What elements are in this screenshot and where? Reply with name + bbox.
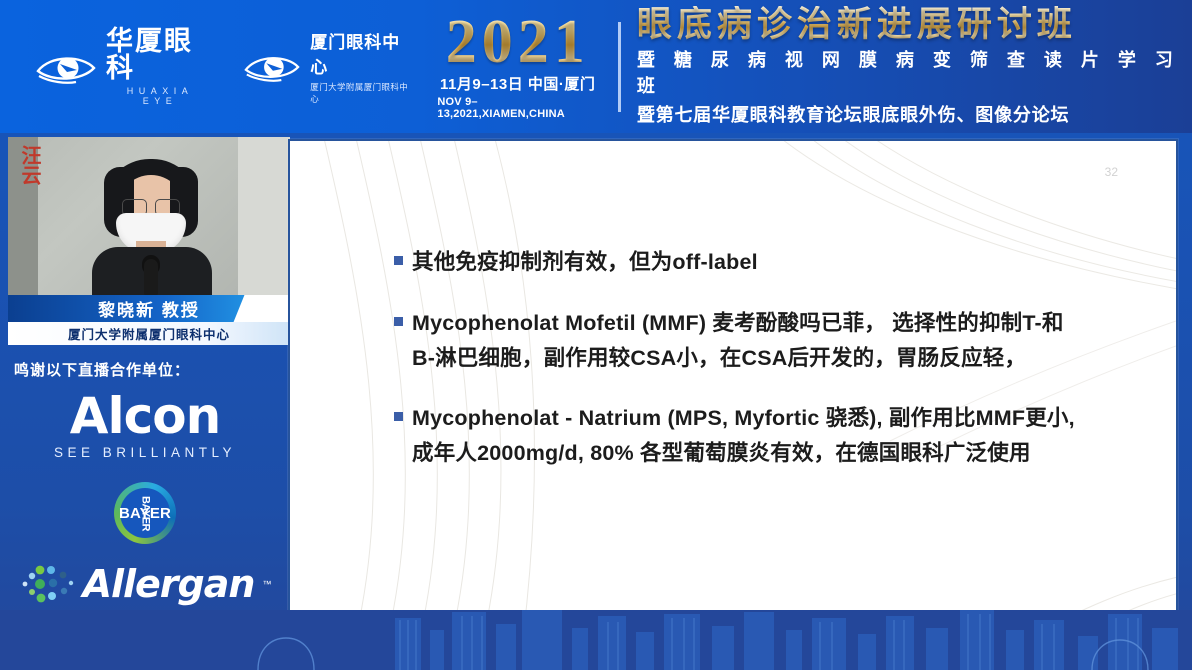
- video-background-text: 汪云: [14, 145, 44, 185]
- sponsor-list: Alcon SEE BRILLIANTLY BAYER BAYER: [0, 391, 290, 627]
- sponsors-heading: 鸣谢以下直播合作单位：: [14, 359, 190, 380]
- huaxia-brand-cn: 华厦眼科: [106, 28, 214, 82]
- xiamen-brand-cn: 厦门眼科中心: [310, 28, 413, 78]
- xiamen-eye-center-brand: 厦门眼科中心 厦门大学附属厦门眼科中心: [244, 28, 413, 105]
- presentation-slide-frame[interactable]: 32 其他免疫抑制剂有效，但为off-label Mycophenolat Mo…: [288, 139, 1178, 645]
- huaxia-brand-en: HUAXIA EYE: [106, 86, 214, 106]
- event-year: 2021: [446, 13, 590, 72]
- allergan-dots-icon: [19, 562, 75, 606]
- list-item: Mycophenolat - Natrium (MPS, Myfortic 骁悉…: [394, 401, 1130, 471]
- bullet-text: Mycophenolat Mofetil (MMF) 麦考酚酸吗已菲， 选择性的…: [412, 306, 1064, 376]
- speaker-figure: [96, 159, 206, 297]
- livestream-page: 华厦眼科 HUAXIA EYE 厦门眼科中心 厦门大学附属厦门眼科中心: [0, 0, 1192, 670]
- speaker-affiliation: 厦门大学附属厦门眼科中心: [68, 324, 230, 343]
- eye-logo-secondary-icon: [244, 51, 301, 83]
- event-header-banner: 华厦眼科 HUAXIA EYE 厦门眼科中心 厦门大学附属厦门眼科中心: [0, 0, 1192, 133]
- city-skyline-decoration: [0, 610, 1192, 670]
- bullet-line: B-淋巴细胞，副作用较CSA小，在CSA后开发的，胃肠反应轻，: [412, 341, 1064, 376]
- bullet-line: 成年人2000mg/d, 80% 各型葡萄膜炎有效，在德国眼科广泛使用: [412, 436, 1075, 471]
- allergan-logo-text: Allergan: [83, 565, 255, 603]
- bullet-text: Mycophenolat - Natrium (MPS, Myfortic 骁悉…: [412, 401, 1075, 471]
- event-date-en: NOV 9–13,2021,XIAMEN,CHINA: [437, 96, 598, 120]
- speaker-name-banner: 黎晓新 教授 厦门大学附属厦门眼科中心: [8, 295, 290, 345]
- list-item: Mycophenolat Mofetil (MMF) 麦考酚酸吗已菲， 选择性的…: [394, 306, 1130, 376]
- xiamen-brand-sub: 厦门大学附属厦门眼科中心: [310, 81, 413, 105]
- slide-bullet-list: 其他免疫抑制剂有效，但为off-label Mycophenolat Mofet…: [394, 245, 1130, 497]
- eye-logo-icon: [36, 51, 96, 83]
- event-subtitle-1: 暨 糖 尿 病 视 网 膜 病 变 筛 查 读 片 学 习 班: [637, 46, 1192, 98]
- eyeglasses-icon: [122, 199, 180, 214]
- event-date-block: 2021 11月9–13日 中国·厦门 NOV 9–13,2021,XIAMEN…: [437, 13, 598, 121]
- bullet-square-icon: [394, 256, 403, 265]
- sidebar: 汪云 黎晓新 教授 厦门大学附属厦门眼科中心 鸣谢以下直播合作单位：: [0, 133, 290, 670]
- event-main-title: 眼底病诊治新进展研讨班: [637, 6, 1192, 44]
- presentation-slide: 32 其他免疫抑制剂有效，但为off-label Mycophenolat Mo…: [290, 141, 1176, 643]
- huaxia-eye-brand: 华厦眼科 HUAXIA EYE: [36, 28, 214, 106]
- bayer-logo-text-v: BAYER: [140, 496, 151, 531]
- alcon-tagline: SEE BRILLIANTLY: [0, 445, 290, 460]
- bayer-logo-icon: BAYER BAYER: [114, 482, 176, 544]
- event-subtitle-2: 暨第七届华厦眼科教育论坛眼底眼外伤、图像分论坛: [637, 101, 1192, 127]
- event-title-block: 眼底病诊治新进展研讨班 暨 糖 尿 病 视 网 膜 病 变 筛 查 读 片 学 …: [637, 6, 1192, 128]
- speaker-name: 黎晓新 教授: [8, 295, 290, 322]
- list-item: 其他免疫抑制剂有效，但为off-label: [394, 245, 1130, 280]
- slide-page-number: 32: [1105, 165, 1118, 179]
- speaker-video-player[interactable]: 汪云: [8, 137, 290, 297]
- bullet-square-icon: [394, 317, 403, 326]
- bullet-square-icon: [394, 412, 403, 421]
- sponsor-alcon: Alcon SEE BRILLIANTLY: [0, 391, 290, 460]
- event-date-cn: 11月9–13日 中国·厦门: [440, 73, 595, 94]
- header-divider: [618, 22, 621, 112]
- speaker-affiliation-bar: 厦门大学附属厦门眼科中心: [8, 322, 290, 345]
- sponsor-bayer: BAYER BAYER: [0, 482, 290, 544]
- alcon-logo-text: Alcon: [0, 391, 290, 441]
- bullet-line: 其他免疫抑制剂有效，但为off-label: [412, 245, 758, 280]
- bullet-line: Mycophenolat Mofetil (MMF) 麦考酚酸吗已菲， 选择性的…: [412, 306, 1064, 341]
- bullet-text: 其他免疫抑制剂有效，但为off-label: [412, 245, 758, 280]
- video-wall-right: [238, 137, 290, 297]
- trademark-icon: ™: [262, 579, 271, 589]
- bullet-line: Mycophenolat - Natrium (MPS, Myfortic 骁悉…: [412, 401, 1075, 436]
